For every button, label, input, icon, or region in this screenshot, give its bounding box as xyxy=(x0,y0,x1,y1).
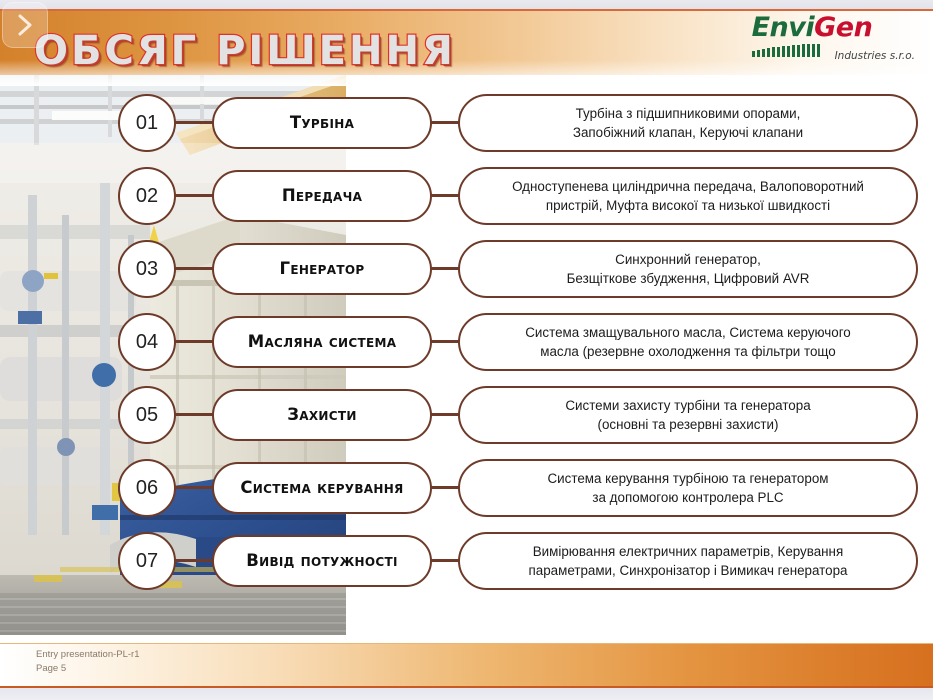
scope-label-text: Турбіна xyxy=(282,115,362,132)
scope-description-text: Система керування турбіною та генераторо… xyxy=(532,469,845,508)
desc-line: параметрами, Синхронізатор і Вимикач ген… xyxy=(529,561,848,580)
scope-description-text: Одноступенева циліндрична передача, Вало… xyxy=(496,177,880,216)
desc-line: пристрій, Муфта високої та низької швидк… xyxy=(512,196,864,215)
desc-line: Безщіткове збудження, Цифровий AVR xyxy=(567,269,810,288)
desc-line: Система керування турбіною та генераторо… xyxy=(548,469,829,488)
chevron-right-icon xyxy=(14,12,36,38)
scope-row: 06 Система керування Система керування т… xyxy=(0,459,933,517)
row-number-badge: 07 xyxy=(118,532,176,590)
scope-label-pill[interactable]: Система керування xyxy=(212,462,432,514)
scope-label-pill[interactable]: Захисти xyxy=(212,389,432,441)
scope-label-pill[interactable]: Передача xyxy=(212,170,432,222)
desc-line: Одноступенева циліндрична передача, Вало… xyxy=(512,177,864,196)
scope-label-text: Генератор xyxy=(272,261,373,278)
scope-row: 01 Турбіна Турбіна з підшипниковими опор… xyxy=(0,94,933,152)
scope-label-text: Захисти xyxy=(279,407,364,424)
envigen-logo: EnviGen xyxy=(752,14,915,61)
scope-description-pill[interactable]: Одноступенева циліндрична передача, Вало… xyxy=(458,167,918,225)
desc-line: Синхронний генератор, xyxy=(567,250,810,269)
scope-description-text: Система змащувального масла, Система кер… xyxy=(509,323,866,362)
connector-left xyxy=(174,413,214,416)
scope-description-pill[interactable]: Вимірювання електричних параметрів, Керу… xyxy=(458,532,918,590)
desc-line: Запобіжний клапан, Керуючі клапани xyxy=(573,123,803,142)
logo-text-gen: Gen xyxy=(814,12,872,43)
next-slide-button[interactable] xyxy=(2,2,48,48)
connector-left xyxy=(174,340,214,343)
scope-description-pill[interactable]: Система керування турбіною та генераторо… xyxy=(458,459,918,517)
connector-left xyxy=(174,486,214,489)
scope-label-pill[interactable]: Генератор xyxy=(212,243,432,295)
scope-description-pill[interactable]: Турбіна з підшипниковими опорами, Запобі… xyxy=(458,94,918,152)
connector-left xyxy=(174,559,214,562)
footer-presentation-name: Entry presentation-PL-r1 xyxy=(36,648,140,663)
window-top-strip xyxy=(0,0,933,9)
scope-description-text: Синхронний генератор, Безщіткове збуджен… xyxy=(551,250,826,289)
logo-bars-icon xyxy=(752,44,830,61)
scope-row: 05 Захисти Системи захисту турбіни та ге… xyxy=(0,386,933,444)
row-number-badge: 01 xyxy=(118,94,176,152)
connector-left xyxy=(174,194,214,197)
scope-row: 03 Генератор Синхронний генератор, Безщі… xyxy=(0,240,933,298)
scope-label-pill[interactable]: Турбіна xyxy=(212,97,432,149)
scope-label-pill[interactable]: Вивід потужності xyxy=(212,535,432,587)
page-title: ОБСЯГ РІШЕННЯ xyxy=(34,28,456,74)
connector-left xyxy=(174,121,214,124)
desc-line: (основні та резервні захисти) xyxy=(565,415,810,434)
row-number-badge: 04 xyxy=(118,313,176,371)
connector-left xyxy=(174,267,214,270)
scope-description-text: Вимірювання електричних параметрів, Керу… xyxy=(513,542,864,581)
desc-line: Вимірювання електричних параметрів, Керу… xyxy=(529,542,848,561)
scope-row: 02 Передача Одноступенева циліндрична пе… xyxy=(0,167,933,225)
scope-label-text: Масляна система xyxy=(240,334,405,351)
logo-text-envi: Envi xyxy=(752,12,815,43)
desc-line: Турбіна з підшипниковими опорами, xyxy=(573,104,803,123)
desc-line: Система змащувального масла, Система кер… xyxy=(525,323,850,342)
row-number-badge: 03 xyxy=(118,240,176,298)
scope-description-text: Турбіна з підшипниковими опорами, Запобі… xyxy=(557,104,819,143)
row-number-badge: 02 xyxy=(118,167,176,225)
solution-scope-list: 01 Турбіна Турбіна з підшипниковими опор… xyxy=(0,75,933,635)
scope-description-text: Системи захисту турбіни та генератора (о… xyxy=(549,396,826,435)
desc-line: масла (резервне охолодження та фільтри т… xyxy=(525,342,850,361)
scope-label-pill[interactable]: Масляна система xyxy=(212,316,432,368)
row-number-badge: 05 xyxy=(118,386,176,444)
footer-band xyxy=(0,643,933,688)
scope-description-pill[interactable]: Система змащувального масла, Система кер… xyxy=(458,313,918,371)
desc-line: за допомогою контролера PLC xyxy=(548,488,829,507)
scope-row: 07 Вивід потужності Вимірювання електрич… xyxy=(0,532,933,590)
presentation-slide: ОБСЯГ РІШЕННЯ EnviGen xyxy=(0,0,933,700)
scope-label-text: Вивід потужності xyxy=(238,553,406,570)
footer-meta: Entry presentation-PL-r1 Page 5 xyxy=(36,648,140,677)
desc-line: Системи захисту турбіни та генератора xyxy=(565,396,810,415)
scope-row: 04 Масляна система Система змащувального… xyxy=(0,313,933,371)
scope-description-pill[interactable]: Синхронний генератор, Безщіткове збуджен… xyxy=(458,240,918,298)
logo-subtitle: Industries s.r.o. xyxy=(835,51,915,62)
scope-label-text: Система керування xyxy=(232,480,411,497)
scope-description-pill[interactable]: Системи захисту турбіни та генератора (о… xyxy=(458,386,918,444)
row-number-badge: 06 xyxy=(118,459,176,517)
footer-page-number: Page 5 xyxy=(36,662,140,677)
window-bottom-strip xyxy=(0,688,933,700)
scope-label-text: Передача xyxy=(274,188,370,205)
